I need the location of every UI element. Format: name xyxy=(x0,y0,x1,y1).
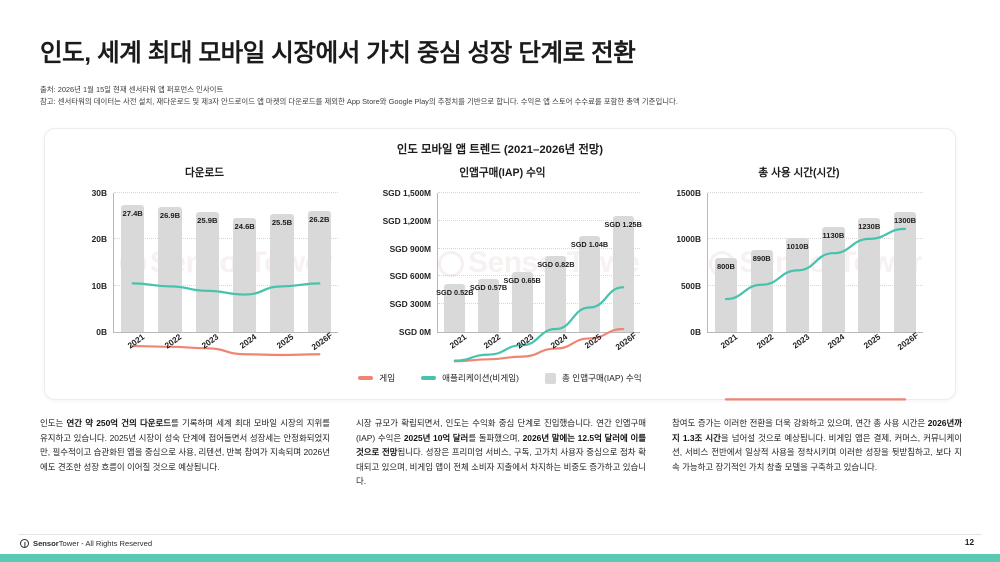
legend-swatch-icon xyxy=(358,376,373,379)
source-note-block: 출처: 2026년 1월 15일 현재 센서타워 앱 퍼포먼스 인사이트 참고:… xyxy=(40,84,678,107)
y-axis-tick-label: 0B xyxy=(96,327,114,337)
x-axis-tick-label: 2026F xyxy=(614,330,639,352)
y-axis-tick-label: 1500B xyxy=(676,188,708,198)
x-tick-cell: 2025 xyxy=(573,332,607,354)
y-axis-tick-label: 30B xyxy=(92,188,114,198)
legend-item: 게임 xyxy=(358,372,395,384)
x-axis-tick-labels: 202120222023202420252026F xyxy=(438,332,640,354)
page-title: 인도, 세계 최대 모바일 시장에서 가치 중심 성장 단계로 전환 xyxy=(40,34,635,69)
x-axis-tick-label: 2023 xyxy=(790,332,811,351)
legend-item: 총 인앱구매(IAP) 수익 xyxy=(545,372,642,384)
rights-text: - All Rights Reserved xyxy=(81,539,152,548)
y-axis-tick-label: SGD 300M xyxy=(390,299,438,309)
y-axis-tick-label: 10B xyxy=(92,281,114,291)
x-axis-tick-labels: 202120222023202420252026F xyxy=(114,332,338,354)
line-series-path xyxy=(726,229,905,299)
body-column-revenue: 시장 규모가 확립되면서, 인도는 수익화 중심 단계로 진입했습니다. 연간 … xyxy=(356,416,646,489)
x-tick-cell: 2021 xyxy=(708,332,744,354)
chart-panel-iap-revenue: 인앱구매(IAP) 수익 SGD 0MSGD 300MSGD 600MSGD 9… xyxy=(355,165,650,355)
plot-area: 0B10B20B30BSensorTower27.4B26.9B25.9B24.… xyxy=(113,193,338,333)
x-tick-cell: 2026F xyxy=(887,332,923,354)
legend-item: 애플리케이션(비게임) xyxy=(421,372,519,384)
x-tick-cell: 2026F xyxy=(301,332,338,354)
y-axis-tick-label: 500B xyxy=(681,281,708,291)
x-tick-cell: 2021 xyxy=(438,332,472,354)
chart-legend: 게임애플리케이션(비게임)총 인앱구매(IAP) 수익 xyxy=(45,372,955,384)
body-column-engagement: 참여도 증가는 이러한 전환을 더욱 강화하고 있으며, 연간 총 사용 시간은… xyxy=(672,416,962,489)
x-axis-tick-label: 2025 xyxy=(862,332,883,351)
sensor-tower-logo-icon xyxy=(20,539,29,548)
x-axis-tick-label: 2022 xyxy=(481,332,502,351)
legend-label: 애플리케이션(비게임) xyxy=(442,372,519,384)
charts-card: 인도 모바일 앱 트렌드 (2021–2026년 전망) 다운로드 0B10B2… xyxy=(44,128,956,400)
chart-panel-total-hours: 총 사용 시간(시간) 0B500B1000B1500BSensorTower8… xyxy=(653,165,945,355)
legend-swatch-icon xyxy=(545,373,556,384)
x-axis-tick-labels: 202120222023202420252026F xyxy=(708,332,923,354)
plot-area: 0B500B1000B1500BSensorTower800B890B1010B… xyxy=(707,193,923,333)
brand-name-bold: Sensor xyxy=(33,539,59,548)
x-tick-cell: 2025 xyxy=(851,332,887,354)
x-axis-tick-label: 2023 xyxy=(200,332,221,351)
note-line: 참고: 센서타워의 데이터는 사전 설치, 재다운로드 및 제3자 안드로이드 … xyxy=(40,96,678,108)
y-axis-tick-label: SGD 0M xyxy=(399,327,438,337)
page-number: 12 xyxy=(965,538,974,547)
legend-swatch-icon xyxy=(421,376,436,379)
x-axis-tick-label: 2021 xyxy=(447,332,468,351)
chart-title: 다운로드 xyxy=(57,165,352,180)
x-axis-tick-label: 2026F xyxy=(310,330,335,352)
plot-area: SGD 0MSGD 300MSGD 600MSGD 900MSGD 1,200M… xyxy=(437,193,640,333)
x-axis-tick-label: 2025 xyxy=(582,332,603,351)
y-axis-tick-label: 0B xyxy=(690,327,708,337)
x-axis-tick-label: 2024 xyxy=(826,332,847,351)
x-tick-cell: 2022 xyxy=(744,332,780,354)
x-tick-cell: 2024 xyxy=(815,332,851,354)
legend-label: 게임 xyxy=(379,372,395,384)
line-series-overlay xyxy=(438,193,640,395)
body-column-downloads: 인도는 연간 약 250억 건의 다운로드를 기록하며 세계 최대 모바일 시장… xyxy=(40,416,330,489)
card-title: 인도 모바일 앱 트렌드 (2021–2026년 전망) xyxy=(45,141,955,157)
x-tick-cell: 2024 xyxy=(226,332,263,354)
chart-title: 인앱구매(IAP) 수익 xyxy=(355,165,650,180)
y-axis-tick-label: SGD 600M xyxy=(390,271,438,281)
x-axis-tick-label: 2021 xyxy=(125,332,146,351)
footer-brand: SensorTower - All Rights Reserved xyxy=(20,539,152,548)
y-axis-tick-label: 1000B xyxy=(676,234,708,244)
x-tick-cell: 2021 xyxy=(114,332,151,354)
legend-label: 총 인앱구매(IAP) 수익 xyxy=(562,372,642,384)
chart-panel-downloads: 다운로드 0B10B20B30BSensorTower27.4B26.9B25.… xyxy=(57,165,352,355)
brand-name-rest: Tower xyxy=(59,539,79,548)
footer-divider xyxy=(18,534,982,535)
x-tick-cell: 2023 xyxy=(780,332,816,354)
x-tick-cell: 2024 xyxy=(539,332,573,354)
x-axis-tick-label: 2024 xyxy=(548,332,569,351)
x-axis-tick-label: 2021 xyxy=(718,332,739,351)
y-axis-tick-label: SGD 1,200M xyxy=(383,216,438,226)
x-axis-tick-label: 2022 xyxy=(163,332,184,351)
x-axis-tick-label: 2026F xyxy=(896,330,921,352)
chart-title: 총 사용 시간(시간) xyxy=(653,165,945,180)
x-tick-cell: 2023 xyxy=(505,332,539,354)
line-series-path xyxy=(133,283,320,294)
x-tick-cell: 2026F xyxy=(606,332,640,354)
x-axis-tick-label: 2025 xyxy=(274,332,295,351)
y-axis-tick-label: SGD 900M xyxy=(390,244,438,254)
body-columns: 인도는 연간 약 250억 건의 다운로드를 기록하며 세계 최대 모바일 시장… xyxy=(40,416,963,489)
x-axis-tick-label: 2023 xyxy=(515,332,536,351)
footer-accent-bar xyxy=(0,554,1000,562)
x-tick-cell: 2022 xyxy=(151,332,188,354)
x-tick-cell: 2022 xyxy=(472,332,506,354)
x-tick-cell: 2025 xyxy=(263,332,300,354)
y-axis-tick-label: SGD 1,500M xyxy=(383,188,438,198)
x-axis-tick-label: 2022 xyxy=(754,332,775,351)
y-axis-tick-label: 20B xyxy=(92,234,114,244)
x-axis-tick-label: 2024 xyxy=(237,332,258,351)
source-line: 출처: 2026년 1월 15일 현재 센서타워 앱 퍼포먼스 인사이트 xyxy=(40,84,678,96)
slide-root: 인도, 세계 최대 모바일 시장에서 가치 중심 성장 단계로 전환 출처: 2… xyxy=(0,0,1000,562)
x-tick-cell: 2023 xyxy=(189,332,226,354)
